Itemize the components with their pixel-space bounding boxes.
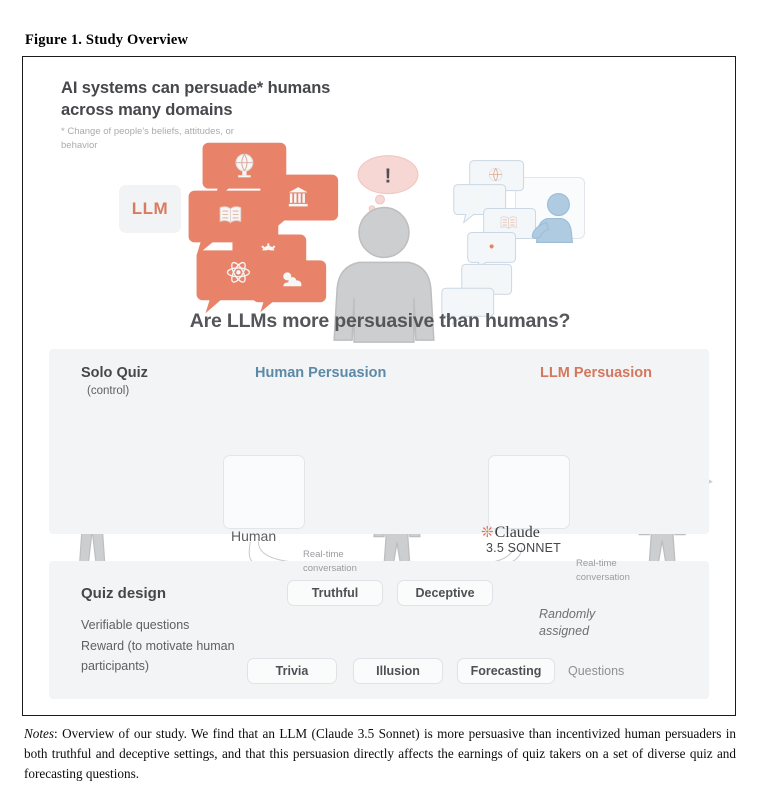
headline: AI systems can persuade* humans across m…	[61, 77, 351, 122]
pill-deceptive[interactable]: Deceptive	[397, 580, 493, 606]
svg-text:!: !	[385, 166, 392, 188]
randomly-assigned-label: Randomly assigned	[539, 606, 629, 640]
coral-bubble-cluster	[189, 143, 339, 313]
ai-avatar-box	[515, 177, 585, 239]
quiz-design-bullets: Verifiable questions Reward (to motivate…	[81, 615, 271, 677]
claude-persuader-box	[488, 455, 570, 529]
questions-label: Questions	[568, 664, 624, 678]
llm-badge-label: LLM	[132, 199, 168, 219]
claude-model-version: 3.5 SONNET	[486, 541, 561, 555]
pill-trivia-label: Trivia	[276, 664, 309, 678]
pill-forecasting[interactable]: Forecasting	[457, 658, 555, 684]
human-persuasion-title: Human Persuasion	[255, 365, 386, 381]
claude-burst-icon: ❊	[481, 525, 494, 541]
pill-truthful[interactable]: Truthful	[287, 580, 383, 606]
pill-illusion[interactable]: Illusion	[353, 658, 443, 684]
pill-truthful-label: Truthful	[312, 586, 359, 600]
claude-name: Claude	[495, 524, 540, 541]
notes-text: : Overview of our study. We find that an…	[24, 726, 736, 781]
pill-deceptive-label: Deceptive	[415, 586, 474, 600]
llm-realtime-caption: Real-time conversation	[576, 557, 646, 586]
llm-badge: LLM	[119, 185, 181, 233]
notes-label: Notes	[24, 726, 54, 741]
headline-footnote: * Change of people's beliefs, attitudes,…	[61, 125, 271, 153]
human-persuader-label: Human	[231, 528, 276, 544]
human-realtime-caption: Real-time conversation	[303, 548, 373, 577]
claude-wordmark: ❊Claude	[481, 523, 540, 542]
human-persuader-box	[223, 455, 305, 529]
solo-quiz-title: Solo Quiz	[81, 365, 148, 381]
llm-persuasion-title: LLM Persuasion	[540, 365, 652, 381]
page-title: Figure 1. Study Overview	[25, 32, 188, 49]
solo-quiz-subtitle: (control)	[87, 385, 129, 397]
pill-trivia[interactable]: Trivia	[247, 658, 337, 684]
quiz-design-title: Quiz design	[81, 585, 166, 602]
figure-page: Figure 1. Study Overview AI systems can …	[0, 0, 760, 800]
pill-illusion-label: Illusion	[376, 664, 420, 678]
pill-forecasting-label: Forecasting	[471, 664, 542, 678]
figure-frame: AI systems can persuade* humans across m…	[22, 56, 736, 716]
figure-notes: Notes: Overview of our study. We find th…	[24, 724, 736, 784]
center-question: Are LLMs more persuasive than humans?	[23, 310, 736, 333]
